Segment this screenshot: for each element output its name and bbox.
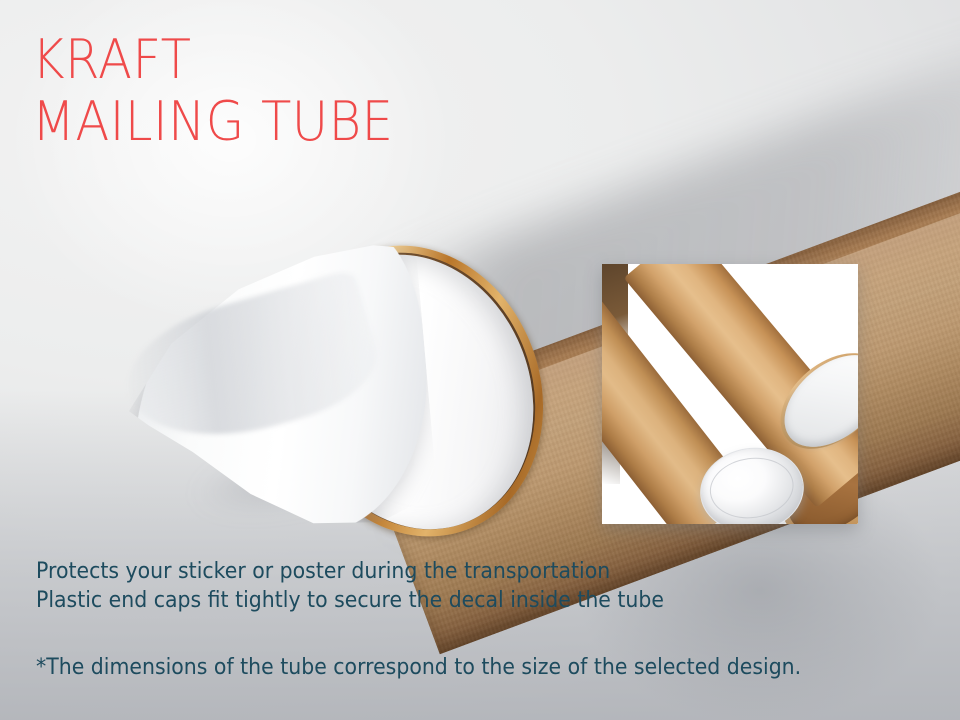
white-poster-sheet (117, 220, 439, 568)
page-title: KRAFT MAILING TUBE (32, 34, 425, 148)
kraft-mailing-tube-product-slide: KRAFT MAILING TUBE Protects your sticker… (0, 0, 960, 720)
feature-copy-line-1: Protects your sticker or poster during t… (36, 557, 664, 586)
gold-rim-open-end (246, 209, 583, 574)
tube-interior (256, 218, 574, 564)
white-poster-roll (258, 221, 571, 564)
footnote-text: *The dimensions of the tube correspond t… (36, 655, 801, 680)
poster-sheet-shadow (144, 400, 456, 550)
tube-rim-outer (246, 209, 583, 574)
poster-sheet-edge (113, 268, 389, 462)
feature-copy: Protects your sticker or poster during t… (36, 557, 711, 616)
inset-photo-canvas (602, 264, 858, 524)
footnote: *The dimensions of the tube correspond t… (36, 655, 859, 680)
page-title-line-1: KRAFT (32, 34, 393, 86)
page-title-line-2: MAILING TUBE (32, 96, 393, 148)
feature-copy-line-2: Plastic end caps fit tightly to secure t… (36, 586, 664, 615)
inset-product-photo (602, 264, 858, 524)
